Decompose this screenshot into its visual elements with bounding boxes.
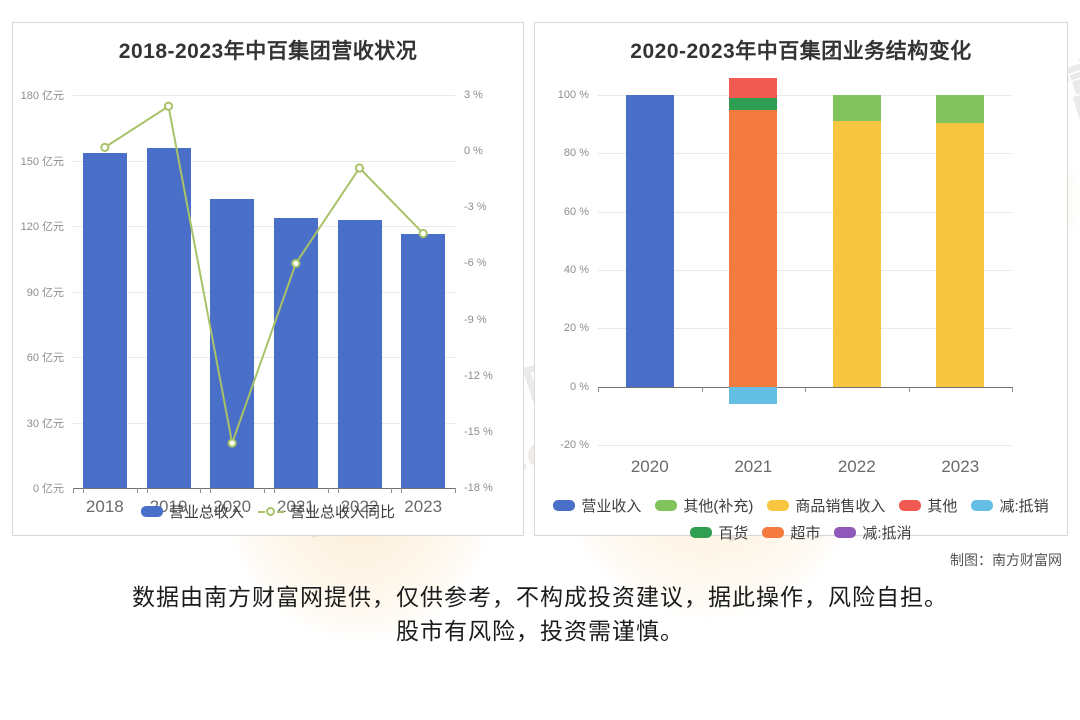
right-y-tick-label: 20 % <box>564 322 598 334</box>
left-line-marker[interactable] <box>101 144 108 151</box>
left-axis-tickmark <box>455 488 456 493</box>
right-legend-item[interactable]: 其他 <box>899 495 957 516</box>
left-axis-tickmark <box>391 488 392 493</box>
right-y-tick-label: 100 % <box>558 89 598 101</box>
right-plot-area: -20 %0 %20 %40 %60 %80 %100 %20202021202… <box>598 95 1012 445</box>
right-stacked-bar[interactable] <box>729 95 777 445</box>
line-seg-icon <box>258 511 265 513</box>
left-line-marker[interactable] <box>420 230 427 237</box>
left-line-series <box>73 95 455 488</box>
right-legend-item[interactable]: 百货 <box>690 522 748 543</box>
right-y-tick-label: -20 % <box>560 439 598 451</box>
left-chart-title: 2018-2023年中百集团营收状况 <box>13 35 523 65</box>
left-y-tick-label: 60 亿元 <box>27 349 73 365</box>
left-axis-tickmark <box>200 488 201 493</box>
business-structure-panel: 2020-2023年中百集团业务结构变化 -20 %0 %20 %40 %60 … <box>534 22 1068 536</box>
right-y-tick-label: 0 % <box>570 381 598 393</box>
left-x-tickmark <box>401 488 402 493</box>
left-chart-legend: 营业总收入营业总收入同比 <box>13 501 523 522</box>
disclaimer: 数据由南方财富网提供，仅供参考，不构成投资建议，据此操作，风险自担。 股市有风险… <box>0 580 1080 648</box>
bar-segment[interactable] <box>729 78 777 98</box>
right-stacked-bar[interactable] <box>833 95 881 445</box>
legend-swatch-icon <box>553 500 575 511</box>
bar-segment[interactable] <box>729 110 777 387</box>
left-x-tickmark <box>274 488 275 493</box>
left-line-marker[interactable] <box>292 260 299 267</box>
line-seg-icon <box>277 511 284 513</box>
legend-swatch-icon <box>767 500 789 511</box>
bar-segment[interactable] <box>626 95 674 387</box>
bar-segment[interactable] <box>729 387 777 404</box>
right-legend-item[interactable]: 超市 <box>762 522 820 543</box>
right-y-tick-label: 40 % <box>564 264 598 276</box>
left-legend-item[interactable]: 营业总收入同比 <box>258 501 395 522</box>
left-axis-tickmark <box>137 488 138 493</box>
legend-swatch-icon <box>655 500 677 511</box>
left-y2-tick-label: -6 % <box>455 257 487 269</box>
legend-swatch-icon <box>690 527 712 538</box>
right-legend-item[interactable]: 减:抵消 <box>834 522 911 543</box>
legend-label: 超市 <box>790 522 820 543</box>
line-marker-icon <box>258 506 284 517</box>
left-y2-tick-label: -18 % <box>455 482 493 494</box>
left-plot-area: 0 亿元30 亿元60 亿元90 亿元120 亿元150 亿元180 亿元-18… <box>73 95 455 488</box>
legend-label: 商品销售收入 <box>795 495 885 516</box>
legend-label: 营业总收入 <box>169 501 244 522</box>
bar-segment[interactable] <box>936 95 984 123</box>
left-y2-tick-label: 3 % <box>455 89 483 101</box>
left-line-marker[interactable] <box>356 164 363 171</box>
left-y-tick-label: 120 亿元 <box>21 218 73 234</box>
left-y2-tick-label: -15 % <box>455 426 493 438</box>
right-gridline <box>598 445 1012 446</box>
right-axis-tickmark <box>1012 387 1013 392</box>
left-line-marker[interactable] <box>165 103 172 110</box>
left-axis-tickmark <box>328 488 329 493</box>
line-dot-icon <box>266 507 275 516</box>
left-legend-item[interactable]: 营业总收入 <box>141 501 244 522</box>
right-legend-item[interactable]: 其他(补充) <box>655 495 753 516</box>
right-stacked-bar[interactable] <box>936 95 984 445</box>
left-axis-tickmark <box>264 488 265 493</box>
legend-label: 减:抵销 <box>999 495 1048 516</box>
right-axis-tickmark <box>598 387 599 392</box>
right-x-tick-label: 2021 <box>734 457 772 477</box>
legend-label: 营业收入 <box>581 495 641 516</box>
left-y-tick-label: 0 亿元 <box>33 480 73 496</box>
right-legend-item[interactable]: 营业收入 <box>553 495 641 516</box>
left-y-tick-label: 180 亿元 <box>21 87 73 103</box>
bar-segment[interactable] <box>833 121 881 386</box>
legend-label: 百货 <box>718 522 748 543</box>
legend-label: 营业总收入同比 <box>290 501 395 522</box>
left-y-tick-label: 90 亿元 <box>27 284 73 300</box>
right-x-tick-label: 2020 <box>631 457 669 477</box>
legend-label: 减:抵消 <box>862 522 911 543</box>
bar-segment[interactable] <box>936 123 984 387</box>
left-y2-tick-label: -9 % <box>455 314 487 326</box>
legend-label: 其他(补充) <box>683 495 753 516</box>
right-y-tick-label: 60 % <box>564 206 598 218</box>
right-legend-item[interactable]: 商品销售收入 <box>767 495 885 516</box>
left-x-tickmark <box>210 488 211 493</box>
right-y-tick-label: 80 % <box>564 147 598 159</box>
left-y2-tick-label: 0 % <box>455 145 483 157</box>
chart-credit: 制图：南方财富网 <box>950 550 1062 570</box>
left-y-tick-label: 30 亿元 <box>27 415 73 431</box>
bar-segment[interactable] <box>833 95 881 121</box>
right-stacked-bar[interactable] <box>626 95 674 445</box>
left-x-tickmark <box>83 488 84 493</box>
bar-segment[interactable] <box>729 98 777 110</box>
legend-swatch-icon <box>141 506 163 517</box>
disclaimer-line-1: 数据由南方财富网提供，仅供参考，不构成投资建议，据此操作，风险自担。 <box>0 580 1080 614</box>
left-line-marker[interactable] <box>229 439 236 446</box>
right-x-tick-label: 2023 <box>941 457 979 477</box>
legend-swatch-icon <box>971 500 993 511</box>
legend-swatch-icon <box>762 527 784 538</box>
right-chart-title: 2020-2023年中百集团业务结构变化 <box>535 35 1067 65</box>
right-x-tick-label: 2022 <box>838 457 876 477</box>
left-axis-tickmark <box>73 488 74 493</box>
revenue-chart-panel: 2018-2023年中百集团营收状况 0 亿元30 亿元60 亿元90 亿元12… <box>12 22 524 536</box>
right-legend-item[interactable]: 减:抵销 <box>971 495 1048 516</box>
screenshot-root: 南方财富网 southmoney.com 南方财富网 southmoney.co… <box>0 0 1080 720</box>
left-y2-tick-label: -12 % <box>455 370 493 382</box>
right-axis-tickmark <box>702 387 703 392</box>
right-axis-tickmark <box>805 387 806 392</box>
left-x-tickmark <box>147 488 148 493</box>
left-y2-tick-label: -3 % <box>455 201 487 213</box>
left-x-tickmark <box>338 488 339 493</box>
left-y-tick-label: 150 亿元 <box>21 153 73 169</box>
disclaimer-line-2: 股市有风险，投资需谨慎。 <box>0 614 1080 648</box>
legend-swatch-icon <box>834 527 856 538</box>
legend-label: 其他 <box>927 495 957 516</box>
legend-swatch-icon <box>899 500 921 511</box>
right-chart-legend: 营业收入其他(补充)商品销售收入其他减:抵销百货超市减:抵消 <box>535 495 1067 543</box>
right-axis-tickmark <box>909 387 910 392</box>
